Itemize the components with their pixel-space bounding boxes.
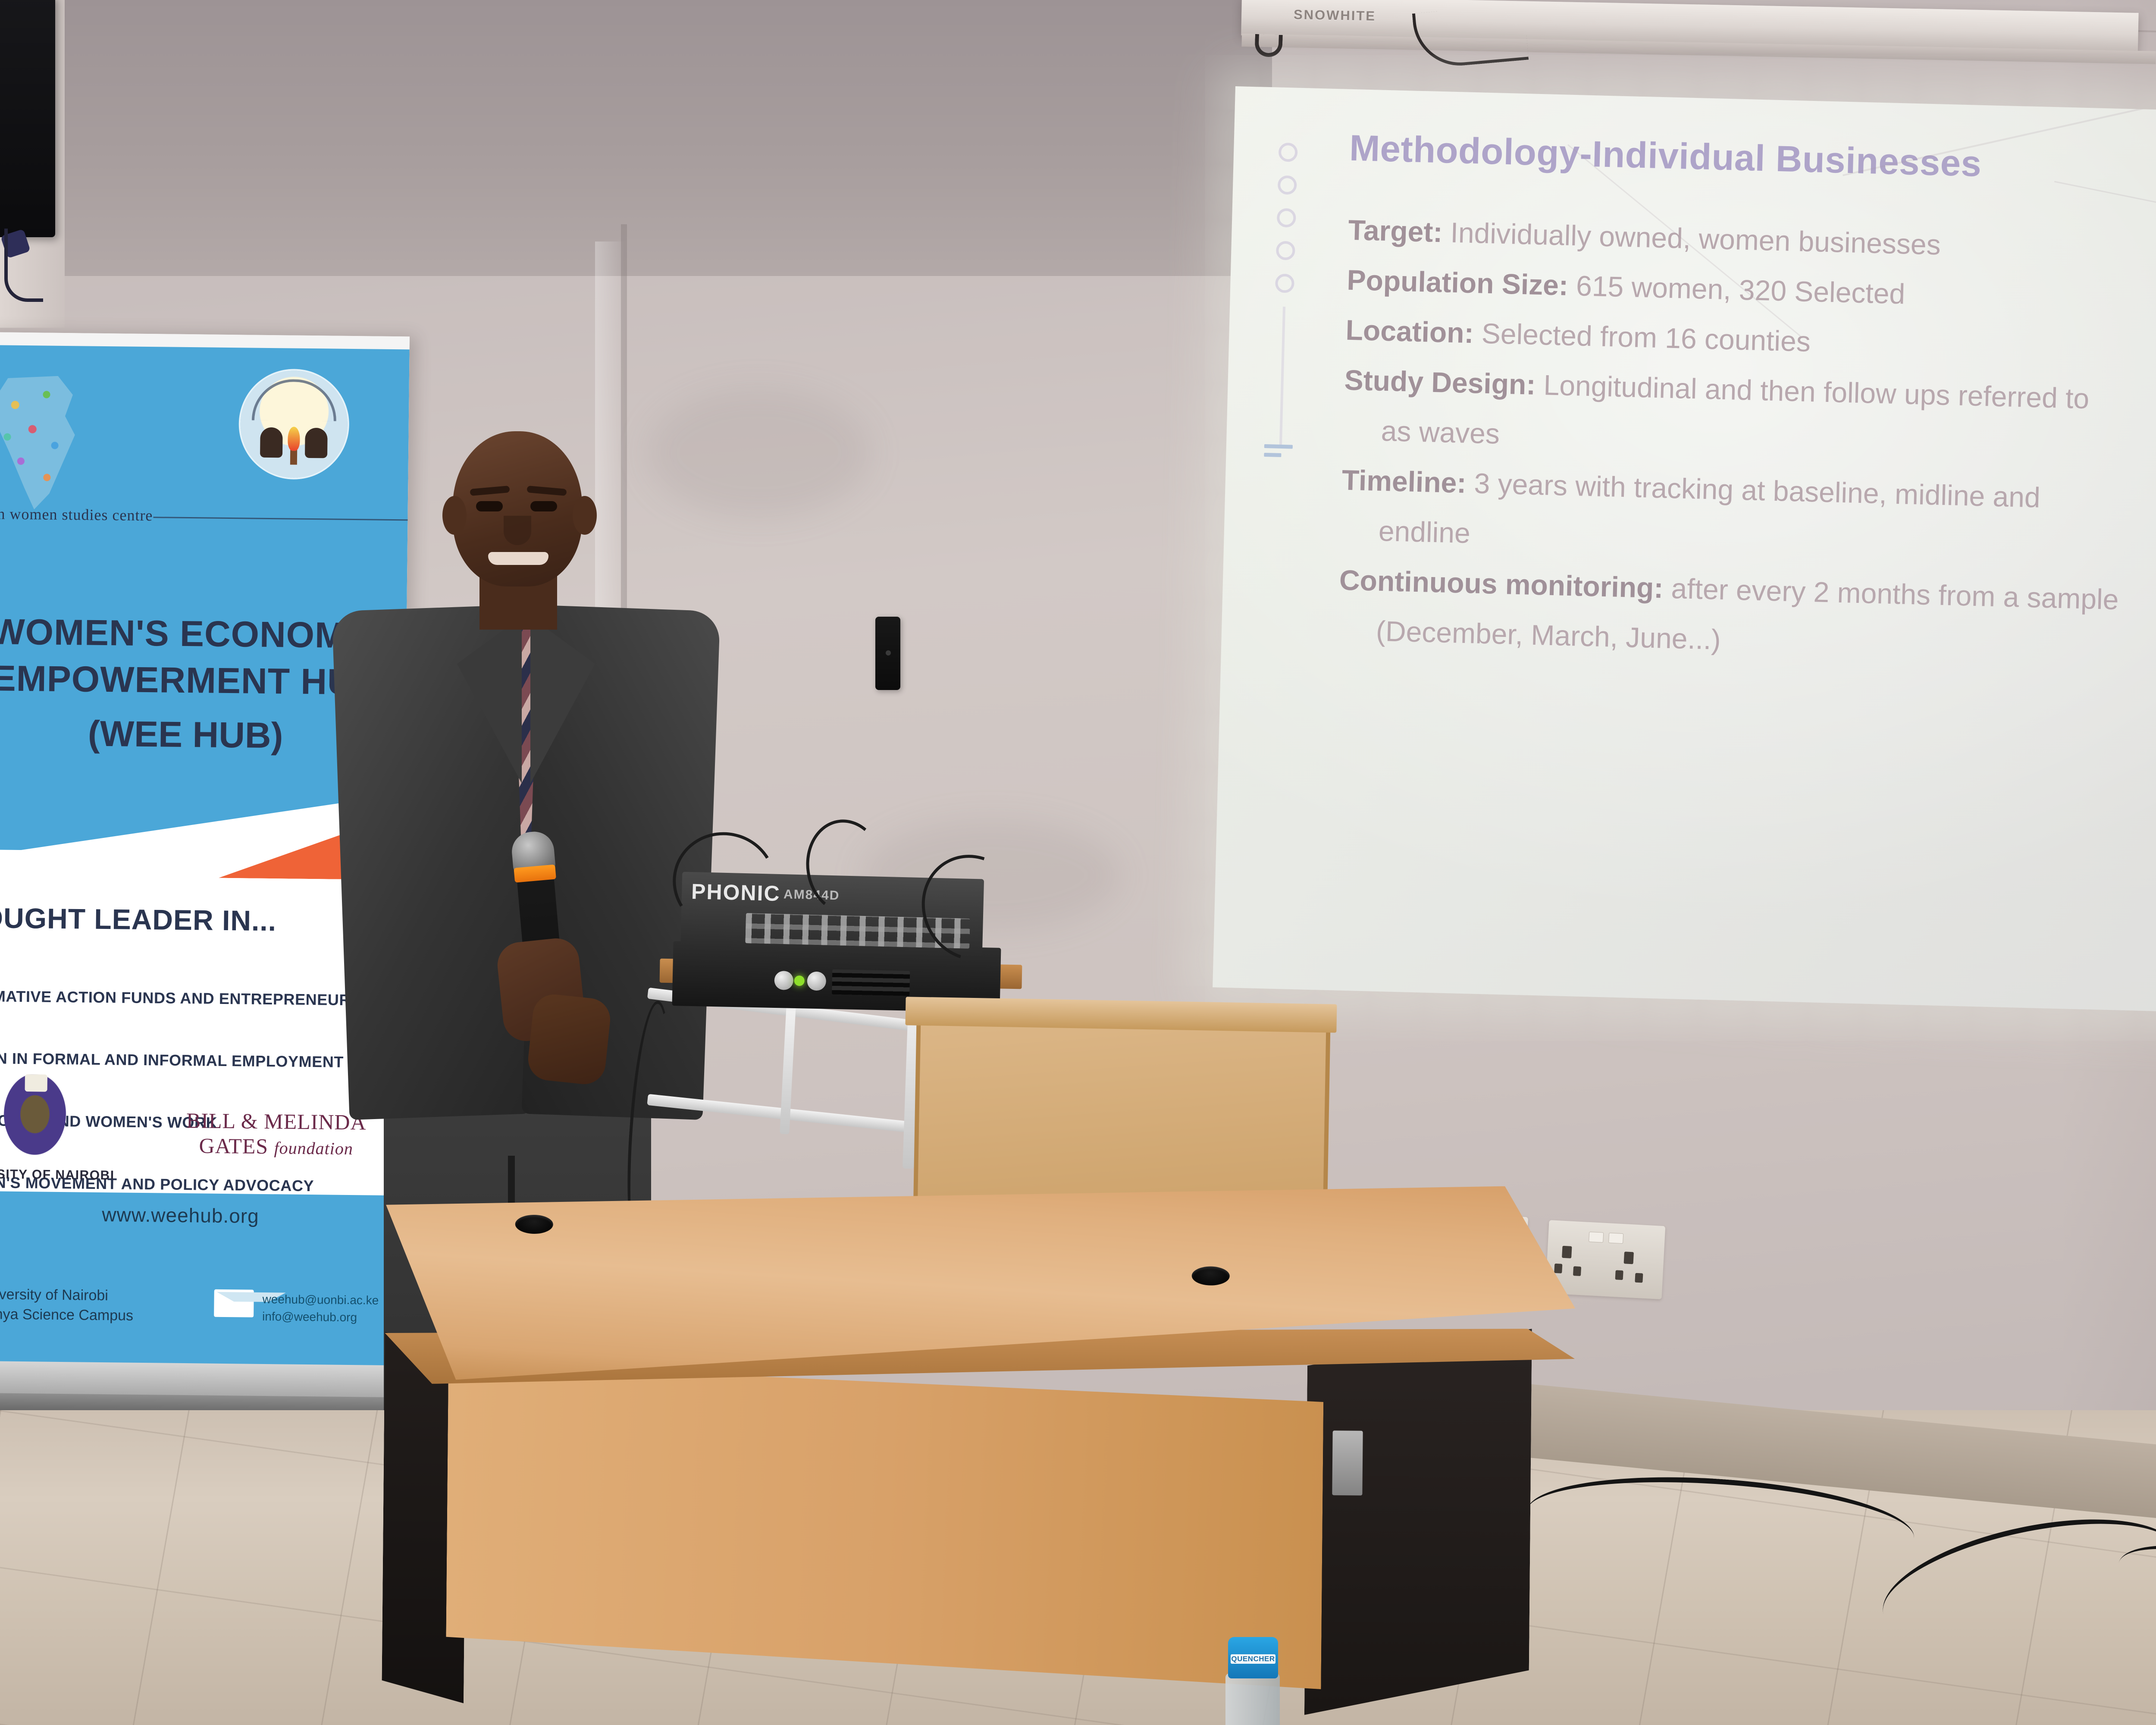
- address-line1: University of Nairobi: [0, 1284, 134, 1306]
- conference-room-scene: SNOWHITE Methodology-Individual Business…: [0, 0, 2156, 1725]
- bottle-brand-label: QUENCHER: [1231, 1654, 1275, 1664]
- slide-dash-marker: [1264, 444, 1293, 462]
- rail-dot-icon: [1279, 143, 1298, 162]
- amp-knob[interactable]: [807, 972, 826, 991]
- socket-pin: [1624, 1251, 1634, 1264]
- logo-arc: [252, 379, 337, 421]
- banner-emails: weehub@uonbi.ac.ke info@weehub.org: [262, 1291, 379, 1327]
- slide-line-label: Location:: [1345, 314, 1474, 349]
- gates-word: GATES: [199, 1133, 268, 1158]
- slide-line-label: Population Size:: [1347, 264, 1569, 301]
- bottle-cap: QUENCHER: [1228, 1637, 1278, 1678]
- slide-line-text: Longitudinal and then follow ups referre…: [1535, 369, 2090, 414]
- banner-org-line: African women studies centre: [0, 504, 153, 524]
- presenter-ear-left: [442, 496, 467, 535]
- socket-switch[interactable]: [1608, 1233, 1623, 1244]
- slide-body: Target: Individually owned, women busine…: [1338, 205, 2156, 680]
- wall-tv: [0, 0, 55, 237]
- rail-dot-icon: [1276, 241, 1295, 260]
- rail-dot-icon: [1275, 273, 1294, 293]
- presenter-hand-lower: [526, 992, 612, 1086]
- desk-side-panel: [1304, 1327, 1532, 1717]
- presenter-nose: [504, 516, 531, 545]
- rail-dot-icon: [1277, 208, 1296, 228]
- slide-line-label: Target:: [1348, 214, 1443, 248]
- logo-head-left: [260, 427, 283, 458]
- email-line2: info@weehub.org: [262, 1308, 379, 1327]
- presenter-eye-left: [476, 501, 503, 511]
- email-line1: weehub@uonbi.ac.ke: [262, 1291, 379, 1309]
- screen-housing-brand-label: SNOWHITE: [1294, 7, 1376, 24]
- desk-front-panel: [446, 1362, 1324, 1689]
- university-crest-icon: [0, 1074, 74, 1165]
- presenter-mouth: [488, 552, 548, 565]
- projected-slide: Methodology-Individual Businesses Target…: [1213, 86, 2156, 1022]
- wall-speaker: [875, 617, 900, 690]
- banner-lead-heading: THOUGHT LEADER IN...: [0, 901, 276, 937]
- slide-line-text: 3 years with tracking at baseline, midli…: [1466, 467, 2040, 514]
- logo-flame-icon: [288, 427, 300, 451]
- banner-foot-strip: [0, 1361, 399, 1399]
- socket-pin: [1635, 1273, 1643, 1283]
- slide-line-label: Study Design:: [1344, 364, 1536, 401]
- slide-line-text: 615 women, 320 Selected: [1568, 270, 1905, 310]
- amp-vent: [832, 969, 910, 996]
- rail-dot-icon: [1278, 176, 1297, 195]
- tv-cable: [4, 229, 43, 302]
- desk-cable-grommet: [1192, 1266, 1230, 1286]
- university-name: UNIVERSITY OF NAIROBI: [0, 1167, 115, 1183]
- amp-power-led: [794, 975, 805, 986]
- upper-wall-band: [0, 0, 1272, 276]
- front-desk: [381, 1176, 1576, 1725]
- banner-address: University of Nairobi Kenya Science Camp…: [0, 1284, 134, 1326]
- desk-cable-grommet: [515, 1215, 553, 1234]
- slide-line-text: after every 2 months from a sample: [1663, 572, 2119, 615]
- slide-line-label: Continuous monitoring:: [1339, 564, 1664, 604]
- bottle-body: [1225, 1673, 1280, 1725]
- slide-line-label: Timeline:: [1341, 464, 1467, 499]
- microphone-band: [514, 865, 556, 883]
- slide-line-text: Individually owned, women businesses: [1442, 216, 1941, 260]
- presenter-ear-right: [573, 496, 597, 535]
- slide-line-text: Selected from 16 counties: [1473, 317, 1811, 358]
- desk-bracket: [1332, 1430, 1363, 1496]
- envelope-icon: [214, 1289, 254, 1317]
- socket-switch[interactable]: [1589, 1232, 1604, 1243]
- logo-head-right: [305, 428, 328, 458]
- presenter-eye-right: [530, 501, 557, 511]
- amp-knob[interactable]: [774, 971, 793, 990]
- address-line2: Kenya Science Campus: [0, 1304, 133, 1326]
- water-bottle: QUENCHER: [1216, 1634, 1289, 1725]
- socket-pin: [1615, 1270, 1623, 1280]
- rail-vertical-line: [1279, 307, 1285, 445]
